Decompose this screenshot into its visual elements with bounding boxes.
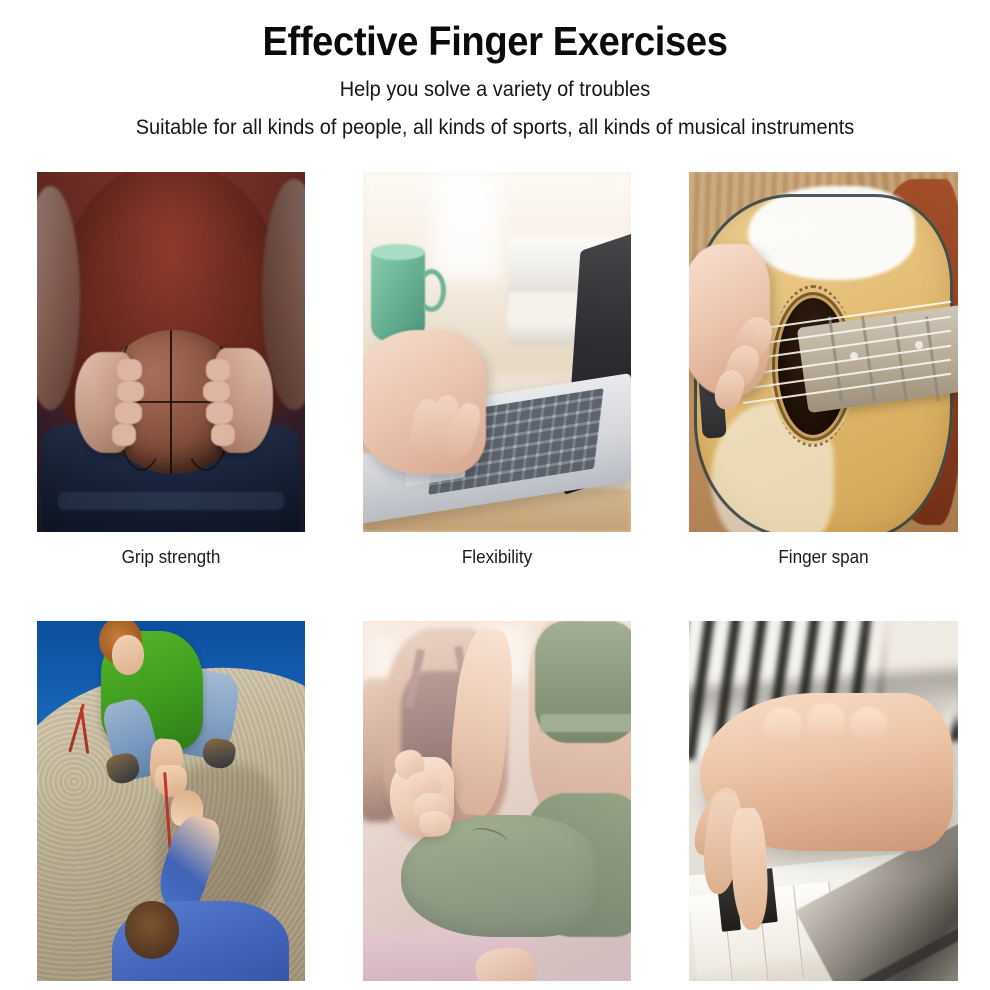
- feature-caption: Endurance: [44, 981, 299, 990]
- feature-caption: Grip strength: [44, 532, 299, 569]
- photo-rock-climbing: [37, 621, 305, 981]
- row-spacer: [689, 569, 958, 621]
- infographic-page: Effective Finger Exercises Help you solv…: [0, 0, 990, 990]
- photo-yoga-meditation: [363, 621, 631, 981]
- feature-cell-finger-span[interactable]: Finger span: [689, 172, 958, 569]
- feature-cell-intensity[interactable]: Intensity: [689, 621, 958, 990]
- subtitle-primary: Help you solve a variety of troubles: [25, 77, 966, 102]
- feature-cell-coordination[interactable]: Coordination: [363, 621, 631, 990]
- feature-cell-endurance[interactable]: Endurance: [37, 621, 305, 990]
- row-spacer: [37, 569, 305, 621]
- feature-cell-flexibility[interactable]: Flexibility: [363, 172, 631, 569]
- feature-caption: Coordination: [370, 981, 625, 990]
- feature-grid: Grip strength: [37, 172, 956, 990]
- header: Effective Finger Exercises Help you solv…: [0, 0, 990, 140]
- subtitle-secondary: Suitable for all kinds of people, all ki…: [25, 115, 966, 140]
- row-spacer: [363, 569, 631, 621]
- photo-piano-hand: [689, 621, 958, 981]
- photo-laptop-typing: [363, 172, 631, 532]
- feature-caption: Intensity: [696, 981, 952, 990]
- photo-guitar-fingers: [689, 172, 958, 532]
- photo-basketball-grip: [37, 172, 305, 532]
- feature-caption: Finger span: [696, 532, 952, 569]
- feature-caption: Flexibility: [370, 532, 625, 569]
- feature-cell-grip-strength[interactable]: Grip strength: [37, 172, 305, 569]
- page-title: Effective Finger Exercises: [35, 19, 956, 65]
